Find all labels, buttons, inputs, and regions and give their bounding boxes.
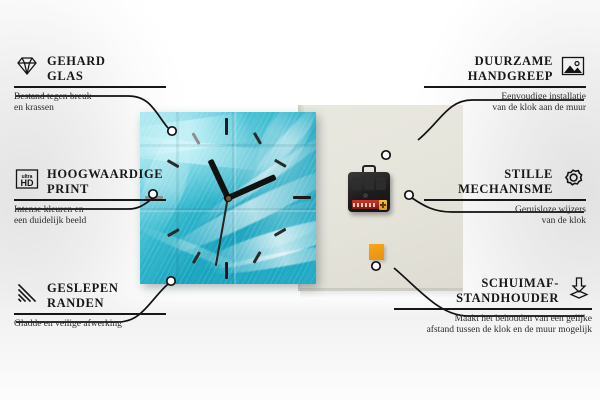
callout-desc-line2: afstand tussen de klok en de muur mogeli… [394,325,592,337]
callout-title-line1: STILLE [424,167,553,182]
callout-desc-line1: Eenvoudige installatie [424,92,586,104]
callout-title-line2: GLAS [47,69,105,84]
callout-rule [394,308,592,310]
callout-title-line2: MECHANISME [424,182,553,197]
callout-title-line1: SCHUIMAF- [394,276,559,291]
callout-gehard-glas: GEHARD GLAS Bestand tegen breuk en krass… [14,54,166,115]
ultra-hd-icon: ultra HD [14,167,40,191]
clock-tick-3 [293,196,311,199]
clock-tick-6 [225,262,228,279]
callout-rule [14,86,166,88]
callout-desc-line2: en krassen [14,103,166,115]
callout-rule [424,86,586,88]
bevelled-edge-icon [14,281,40,305]
diamond-icon [14,54,40,78]
callout-desc-line2: van de klok [424,216,586,228]
foam-spacer [369,244,384,260]
mechanism-detail-strip [352,177,386,190]
callout-desc-line1: Maakt het behouden van een gelijke [394,314,592,326]
callout-hoogwaardige-print: ultra HD HOOGWAARDIGE PRINT Intense kleu… [14,167,166,228]
callout-rule [14,199,166,201]
callout-rule [14,313,166,315]
callout-desc-line1: Bestand tegen breuk [14,92,166,104]
callout-desc-line1: Gladde en veilige afwerking [14,319,166,331]
callout-desc-line1: Intense kleuren en [14,205,166,217]
callout-title-line1: GESLEPEN [47,281,119,296]
down-arrow-spacer-icon [566,276,592,300]
callout-geslepen-randen: GESLEPEN RANDEN Gladde en veilige afwerk… [14,281,166,330]
callout-title-line1: HOOGWAARDIGE [47,167,163,182]
callout-rule [424,199,586,201]
callout-title-line2: PRINT [47,182,163,197]
callout-stille-mechanisme: STILLE MECHANISME Geruisloze wijzers van… [424,167,586,228]
callout-duurzame-handgreep: DUURZAME HANDGREEP Eenvoudige installati… [424,54,586,115]
product-infographic: GEHARD GLAS Bestand tegen breuk en krass… [0,0,600,400]
callout-title-line2: STANDHOUDER [394,291,559,306]
callout-title-line1: DUURZAME [424,54,553,69]
wall-clock [140,112,316,284]
gear-icon [560,167,586,191]
mechanism-knob [362,192,369,199]
svg-text:HD: HD [21,178,34,188]
picture-frame-icon [560,54,586,78]
battery-plus-terminal [379,200,387,210]
clock-mechanism [348,172,390,212]
callout-schuimafstandhouder: SCHUIMAF- STANDHOUDER Maakt het behouden… [394,276,592,337]
callout-title-line2: HANDGREEP [424,69,553,84]
callout-desc-line2: een duidelijk beeld [14,216,166,228]
battery-label [353,203,375,207]
callout-title-line2: RANDEN [47,296,119,311]
clock-hand-hub [226,196,231,201]
callout-desc-line2: van de klok aan de muur [424,103,586,115]
callout-desc-line1: Geruisloze wijzers [424,205,586,217]
clock-tick-12 [225,118,228,135]
callout-title-line1: GEHARD [47,54,105,69]
